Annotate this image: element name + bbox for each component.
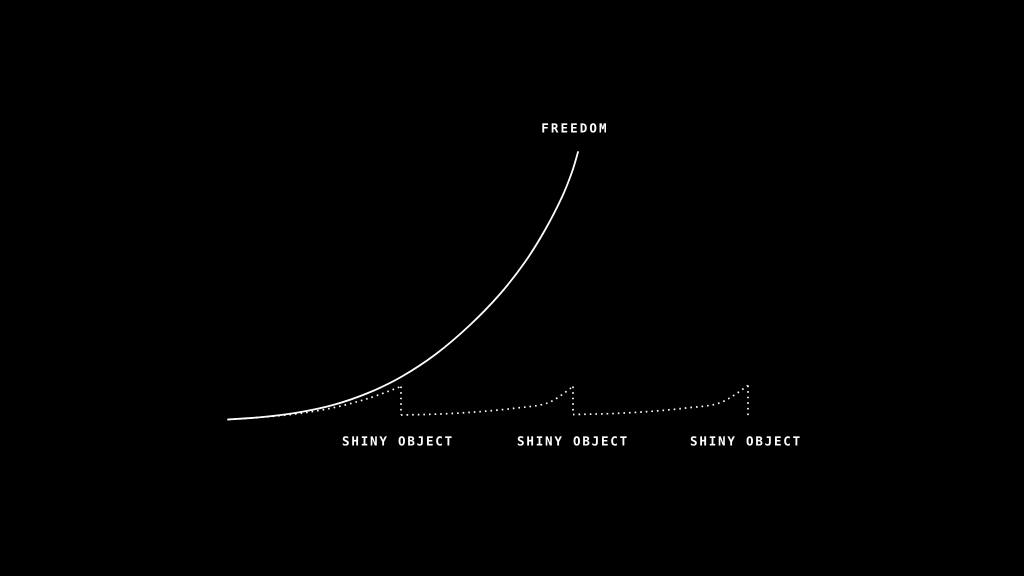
chart-canvas: FREEDOM SHINY OBJECT SHINY OBJECT SHINY … (0, 0, 1024, 576)
series-shiny-object-group (228, 386, 748, 420)
shiny-object-segment-approach-1 (228, 387, 401, 420)
freedom-label: FREEDOM (541, 121, 608, 136)
chart-plot-area (0, 0, 1024, 576)
shiny-object-label-1: SHINY OBJECT (342, 434, 454, 449)
shiny-object-segment-approach-3 (573, 386, 748, 415)
freedom-curve (228, 152, 578, 420)
series-freedom-group (228, 152, 578, 420)
shiny-object-label-3: SHINY OBJECT (690, 434, 802, 449)
shiny-object-label-2: SHINY OBJECT (517, 434, 629, 449)
shiny-object-segment-approach-2 (401, 387, 573, 416)
